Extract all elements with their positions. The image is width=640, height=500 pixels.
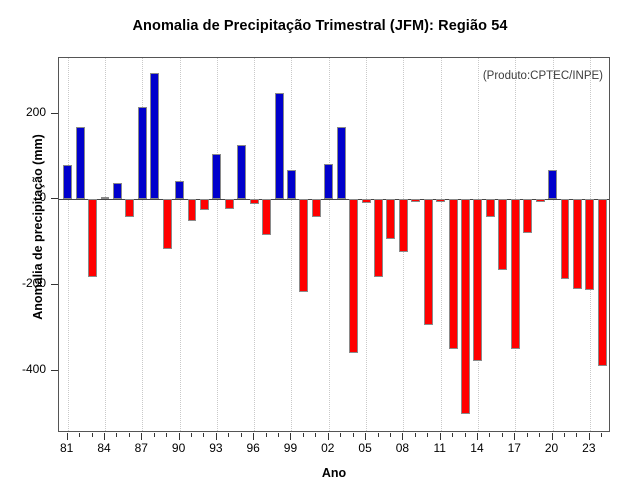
x-tick-mark bbox=[290, 433, 291, 440]
x-tick-label: 81 bbox=[47, 441, 87, 455]
x-tick-label: 23 bbox=[569, 441, 609, 455]
bar-2021 bbox=[561, 199, 570, 278]
bar-2017 bbox=[511, 199, 520, 349]
bar-2002 bbox=[324, 164, 333, 199]
bar-2006 bbox=[374, 199, 383, 276]
x-tick-mark bbox=[452, 433, 453, 437]
bar-1985 bbox=[113, 183, 122, 199]
bar-2009 bbox=[411, 199, 420, 202]
bar-1981 bbox=[63, 165, 72, 199]
x-tick-label: 14 bbox=[457, 441, 497, 455]
x-tick-mark bbox=[502, 433, 503, 437]
y-tick-label: -400 bbox=[0, 362, 46, 376]
x-tick-mark bbox=[216, 433, 217, 440]
gridline-vertical bbox=[441, 58, 443, 431]
page-title: Anomalia de Precipitação Trimestral (JFM… bbox=[0, 18, 640, 34]
bar-2007 bbox=[386, 199, 395, 238]
bar-1997 bbox=[262, 199, 271, 234]
bar-1986 bbox=[125, 199, 134, 217]
x-tick-mark bbox=[92, 433, 93, 437]
y-tick-mark bbox=[51, 370, 58, 371]
y-tick-mark bbox=[51, 113, 58, 114]
x-tick-mark bbox=[253, 433, 254, 440]
bar-1998 bbox=[275, 93, 284, 199]
x-tick-mark bbox=[191, 433, 192, 437]
bar-1996 bbox=[250, 199, 259, 203]
gridline-vertical bbox=[366, 58, 368, 431]
x-tick-label: 05 bbox=[345, 441, 385, 455]
plot-inner bbox=[59, 58, 609, 431]
gridline-vertical bbox=[291, 58, 293, 431]
x-tick-mark bbox=[166, 433, 167, 437]
x-tick-mark bbox=[116, 433, 117, 437]
x-tick-mark bbox=[179, 433, 180, 440]
bar-2022 bbox=[573, 199, 582, 289]
x-tick-label: 99 bbox=[270, 441, 310, 455]
x-tick-mark bbox=[365, 433, 366, 440]
x-tick-mark bbox=[415, 433, 416, 437]
gridline-vertical bbox=[254, 58, 256, 431]
bar-1982 bbox=[76, 127, 85, 199]
bar-2011 bbox=[436, 199, 445, 202]
x-tick-label: 93 bbox=[196, 441, 236, 455]
gridline-vertical bbox=[217, 58, 219, 431]
y-axis-label: Anomalia de precipitação (mm) bbox=[31, 97, 45, 357]
bar-1992 bbox=[200, 199, 209, 210]
bar-1995 bbox=[237, 145, 246, 200]
bar-1983 bbox=[88, 199, 97, 277]
x-tick-mark bbox=[203, 433, 204, 437]
x-tick-mark bbox=[67, 433, 68, 440]
bar-1987 bbox=[138, 107, 147, 199]
x-tick-mark bbox=[390, 433, 391, 437]
plot-area: (Produto:CPTEC/INPE) bbox=[58, 57, 610, 432]
bar-2000 bbox=[299, 199, 308, 291]
x-tick-mark bbox=[328, 433, 329, 440]
x-tick-mark bbox=[104, 433, 105, 440]
x-tick-mark bbox=[576, 433, 577, 437]
bar-1989 bbox=[163, 199, 172, 248]
bar-2015 bbox=[486, 199, 495, 216]
bar-1994 bbox=[225, 199, 234, 208]
x-tick-mark bbox=[315, 433, 316, 437]
x-tick-label: 90 bbox=[159, 441, 199, 455]
x-tick-mark bbox=[527, 433, 528, 437]
bar-2008 bbox=[399, 199, 408, 251]
x-tick-mark bbox=[129, 433, 130, 437]
x-tick-mark bbox=[552, 433, 553, 440]
bar-2023 bbox=[585, 199, 594, 290]
x-tick-mark bbox=[539, 433, 540, 437]
bar-2013 bbox=[461, 199, 470, 413]
x-tick-mark bbox=[353, 433, 354, 437]
x-tick-mark bbox=[477, 433, 478, 440]
bar-2024 bbox=[598, 199, 607, 365]
x-tick-mark bbox=[228, 433, 229, 437]
x-tick-label: 96 bbox=[233, 441, 273, 455]
x-tick-mark bbox=[79, 433, 80, 437]
x-tick-mark bbox=[489, 433, 490, 437]
bar-2014 bbox=[473, 199, 482, 361]
chart-root: Anomalia de Precipitação Trimestral (JFM… bbox=[0, 0, 640, 500]
gridline-vertical bbox=[68, 58, 70, 431]
bar-2020 bbox=[548, 170, 557, 199]
bar-1993 bbox=[212, 154, 221, 199]
x-tick-mark bbox=[278, 433, 279, 437]
bar-2018 bbox=[523, 199, 532, 232]
bar-2004 bbox=[349, 199, 358, 352]
bar-2019 bbox=[536, 199, 545, 202]
x-tick-mark bbox=[303, 433, 304, 437]
bar-1991 bbox=[188, 199, 197, 220]
x-tick-mark bbox=[402, 433, 403, 440]
bar-2001 bbox=[312, 199, 321, 217]
y-tick-mark bbox=[51, 198, 58, 199]
x-tick-mark bbox=[427, 433, 428, 437]
x-tick-mark bbox=[154, 433, 155, 437]
y-tick-label: 0 bbox=[0, 190, 46, 204]
x-tick-mark bbox=[141, 433, 142, 440]
bar-2012 bbox=[449, 199, 458, 348]
x-tick-mark bbox=[340, 433, 341, 437]
gridline-vertical bbox=[553, 58, 555, 431]
x-tick-mark bbox=[440, 433, 441, 440]
gridline-vertical bbox=[105, 58, 107, 431]
bar-1999 bbox=[287, 170, 296, 199]
source-annotation: (Produto:CPTEC/INPE) bbox=[483, 70, 603, 82]
x-tick-mark bbox=[564, 433, 565, 437]
x-tick-label: 17 bbox=[494, 441, 534, 455]
bar-2003 bbox=[337, 127, 346, 199]
bar-1988 bbox=[150, 73, 159, 199]
x-tick-label: 87 bbox=[121, 441, 161, 455]
x-tick-mark bbox=[266, 433, 267, 437]
gridline-vertical bbox=[180, 58, 182, 431]
y-tick-label: 200 bbox=[0, 105, 46, 119]
bar-2016 bbox=[498, 199, 507, 270]
x-tick-mark bbox=[589, 433, 590, 440]
bar-1990 bbox=[175, 181, 184, 199]
gridline-vertical bbox=[329, 58, 331, 431]
x-tick-label: 20 bbox=[532, 441, 572, 455]
x-tick-label: 11 bbox=[420, 441, 460, 455]
bar-2005 bbox=[362, 199, 371, 202]
x-tick-label: 08 bbox=[382, 441, 422, 455]
x-tick-label: 02 bbox=[308, 441, 348, 455]
x-tick-mark bbox=[241, 433, 242, 437]
x-axis-label: Ano bbox=[58, 466, 610, 480]
y-tick-mark bbox=[51, 284, 58, 285]
x-tick-label: 84 bbox=[84, 441, 124, 455]
x-tick-mark bbox=[601, 433, 602, 437]
bar-2010 bbox=[424, 199, 433, 324]
x-tick-mark bbox=[514, 433, 515, 440]
x-tick-mark bbox=[378, 433, 379, 437]
bar-1984 bbox=[101, 197, 110, 199]
x-tick-mark bbox=[465, 433, 466, 437]
y-tick-label: -200 bbox=[0, 276, 46, 290]
